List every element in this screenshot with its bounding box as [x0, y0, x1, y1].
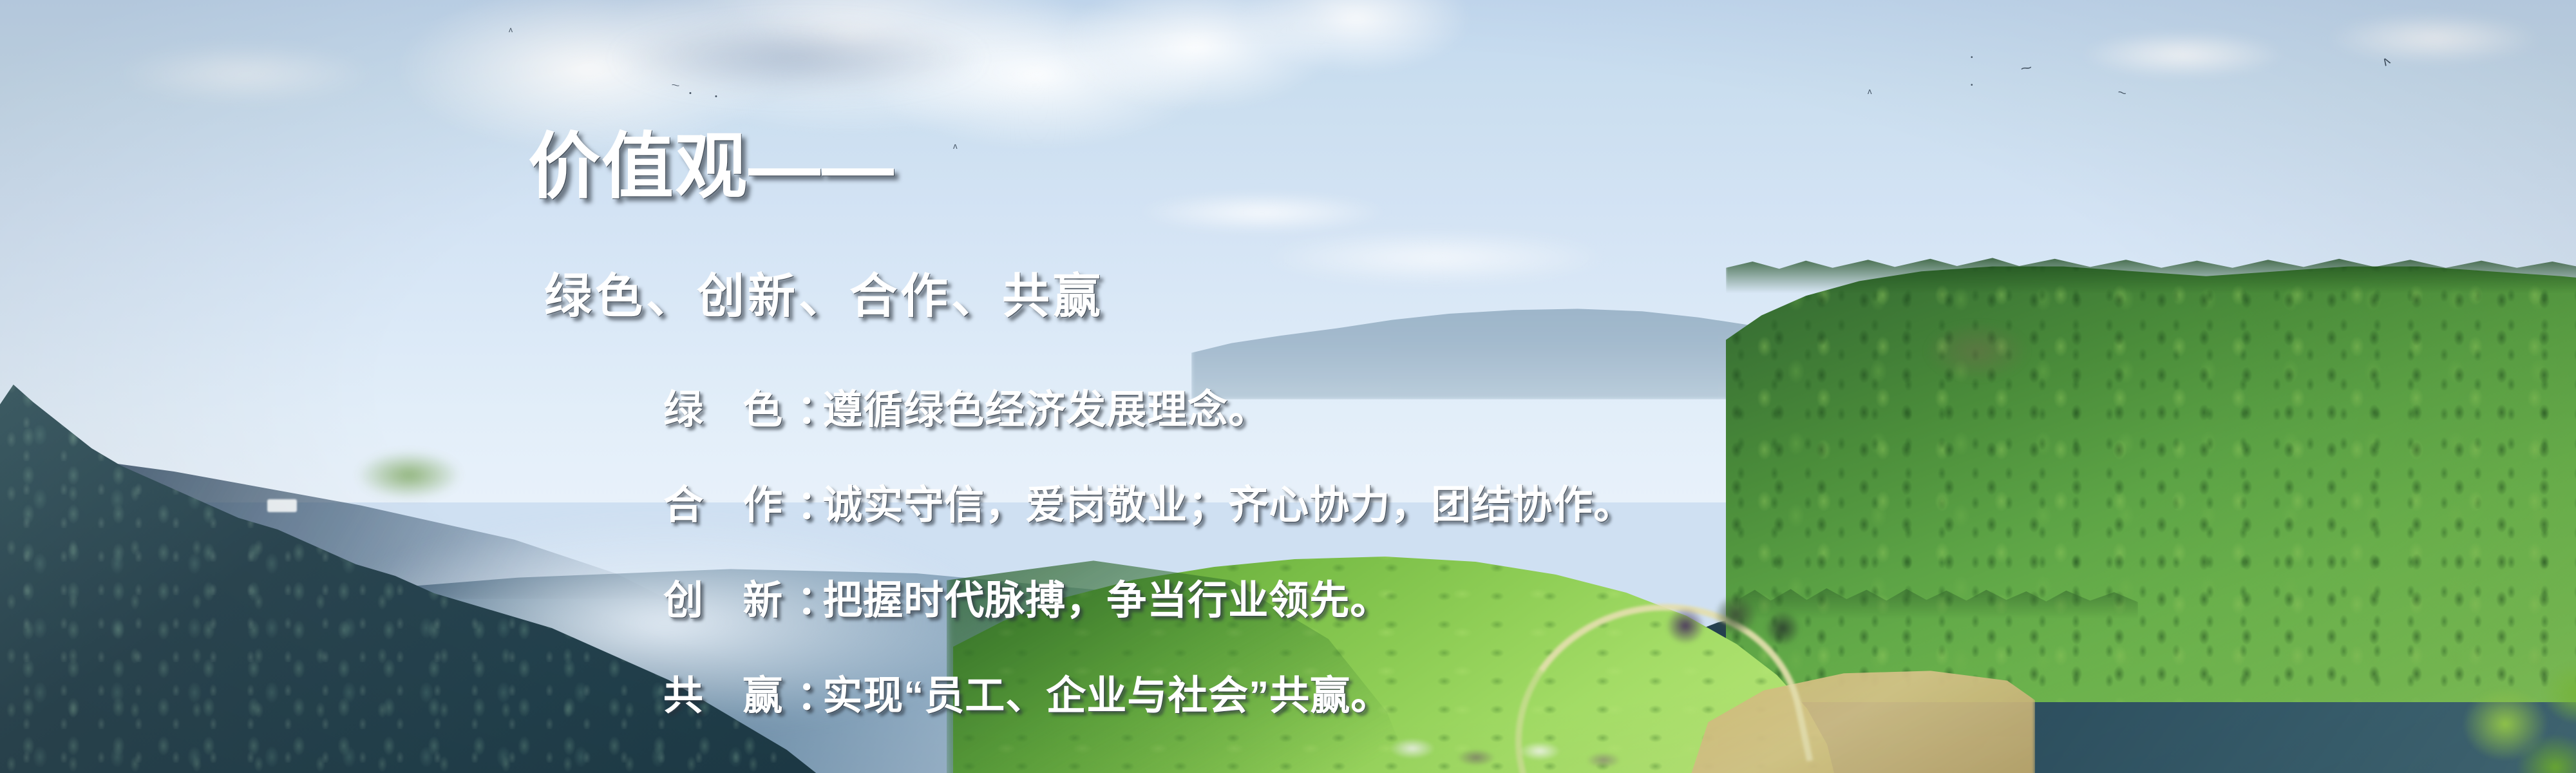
- value-item: 创 新 ： 把握时代脉搏，争当行业领先。: [663, 568, 2531, 625]
- cloud-icon: [1211, 219, 1662, 296]
- cloud-icon: [77, 26, 412, 122]
- value-item: 绿 色 ： 遵循绿色经济发展理念。: [663, 377, 2531, 435]
- value-key: 绿 色: [663, 377, 797, 435]
- cloud-shadow: [547, 6, 1050, 110]
- value-colon: ：: [797, 663, 822, 721]
- value-colon: ：: [797, 568, 822, 625]
- cloud-icon: [2048, 19, 2318, 90]
- value-colon: ：: [797, 472, 822, 530]
- value-key: 合 作: [663, 472, 797, 530]
- bird-icon: ~: [671, 80, 681, 90]
- bird-icon: ~: [2020, 61, 2034, 77]
- bird-icon: •: [715, 93, 717, 100]
- value-key: 创 新: [663, 568, 797, 625]
- riverside-house: [267, 499, 297, 512]
- page-subtitle: 绿色、创新、合作、共赢: [544, 258, 1104, 327]
- values-list: 绿 色 ： 遵循绿色经济发展理念。 合 作 ： 诚实守信，爱岗敬业；齐心协力，团…: [663, 377, 2531, 721]
- banner-stage: ~ • • ʌ ʌ ʌ ~ • • ~ ʌ 价值观—— 绿色、创新、合作、共赢 …: [0, 0, 2576, 773]
- bird-icon: •: [1971, 55, 1973, 61]
- value-item: 共 赢 ： 实现“员工、企业与社会”共赢。: [663, 663, 2531, 721]
- value-text: 诚实守信，爱岗敬业；齐心协力，团结协作。: [822, 472, 1634, 530]
- value-text: 遵循绿色经济发展理念。: [822, 377, 1269, 435]
- sunlit-clearing: [341, 444, 477, 506]
- page-title: 价值观——: [528, 129, 895, 205]
- village-houses: [1372, 715, 1662, 773]
- bird-icon: ʌ: [953, 142, 958, 150]
- cloud-icon: [2293, 0, 2576, 77]
- value-key: 共 赢: [663, 663, 797, 721]
- bird-icon: ʌ: [1868, 87, 1872, 95]
- cloud-icon: [1005, 0, 1507, 142]
- bird-icon: ʌ: [509, 26, 513, 33]
- value-text: 把握时代脉搏，争当行业领先。: [822, 568, 1390, 625]
- value-colon: ：: [797, 377, 822, 435]
- value-item: 合 作 ： 诚实守信，爱岗敬业；齐心协力，团结协作。: [663, 472, 2531, 530]
- bird-icon: •: [1971, 82, 1973, 89]
- value-text: 实现“员工、企业与社会”共赢。: [822, 663, 1391, 721]
- bird-icon: •: [689, 90, 692, 97]
